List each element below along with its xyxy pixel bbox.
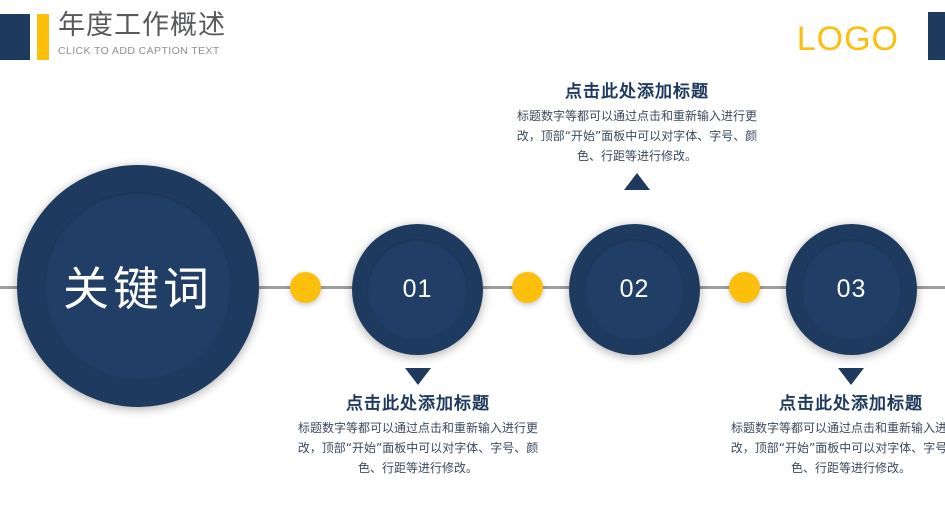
timeline-node-01[interactable]: 01	[352, 224, 483, 355]
logo-text: LOGO	[797, 20, 899, 59]
text-block-bottom-left[interactable]: 点击此处添加标题 标题数字等都可以通过点击和重新输入进行更改，顶部“开始”面板中…	[295, 368, 541, 478]
text-block-top[interactable]: 点击此处添加标题 标题数字等都可以通过点击和重新输入进行更改，顶部“开始”面板中…	[514, 80, 760, 190]
slide-header: 年度工作概述 CLICK TO ADD CAPTION TEXT LOGO	[0, 0, 945, 80]
text-block-bottom-right[interactable]: 点击此处添加标题 标题数字等都可以通过点击和重新输入进行更改，顶部“开始”面板中…	[728, 368, 945, 478]
node-03-circle-outer: 03	[786, 224, 917, 355]
timeline-node-03[interactable]: 03	[786, 224, 917, 355]
triangle-down-icon	[838, 368, 864, 385]
timeline-dot-3-icon	[729, 272, 760, 303]
header-text-group: 年度工作概述 CLICK TO ADD CAPTION TEXT	[58, 10, 226, 57]
timeline-dot-2-icon	[512, 272, 543, 303]
node-03-number: 03	[837, 275, 867, 304]
text-block-bottom-left-pointer-wrap	[295, 368, 541, 385]
triangle-up-icon	[624, 173, 650, 190]
timeline-node-02[interactable]: 02	[569, 224, 700, 355]
text-block-bottom-left-body: 标题数字等都可以通过点击和重新输入进行更改，顶部“开始”面板中可以对字体、字号、…	[295, 418, 541, 478]
keyword-circle-outer: 关键词	[17, 165, 259, 407]
triangle-down-icon	[405, 368, 431, 385]
timeline-dot-1-icon	[290, 272, 321, 303]
header-navy-accent-bar-right	[928, 12, 945, 60]
page-subtitle: CLICK TO ADD CAPTION TEXT	[58, 45, 226, 57]
header-navy-accent-bar	[0, 14, 30, 60]
node-02-number: 02	[620, 275, 650, 304]
node-01-circle-inner: 01	[367, 239, 468, 340]
node-02-circle-inner: 02	[584, 239, 685, 340]
page-title: 年度工作概述	[58, 10, 226, 42]
node-01-number: 01	[403, 275, 433, 304]
text-block-bottom-right-title: 点击此处添加标题	[728, 392, 945, 416]
text-block-bottom-left-title: 点击此处添加标题	[295, 392, 541, 416]
text-block-top-title: 点击此处添加标题	[514, 80, 760, 104]
text-block-bottom-right-pointer-wrap	[728, 368, 945, 385]
keyword-node[interactable]: 关键词	[17, 165, 259, 407]
node-03-circle-inner: 03	[801, 239, 902, 340]
keyword-label: 关键词	[63, 253, 213, 319]
header-yellow-accent-bar	[37, 14, 49, 60]
text-block-bottom-right-body: 标题数字等都可以通过点击和重新输入进行更改，顶部“开始”面板中可以对字体、字号、…	[728, 418, 945, 478]
node-01-circle-outer: 01	[352, 224, 483, 355]
keyword-circle-inner: 关键词	[44, 192, 232, 380]
text-block-top-pointer-wrap	[514, 173, 760, 190]
node-02-circle-outer: 02	[569, 224, 700, 355]
text-block-top-body: 标题数字等都可以通过点击和重新输入进行更改，顶部“开始”面板中可以对字体、字号、…	[514, 106, 760, 166]
